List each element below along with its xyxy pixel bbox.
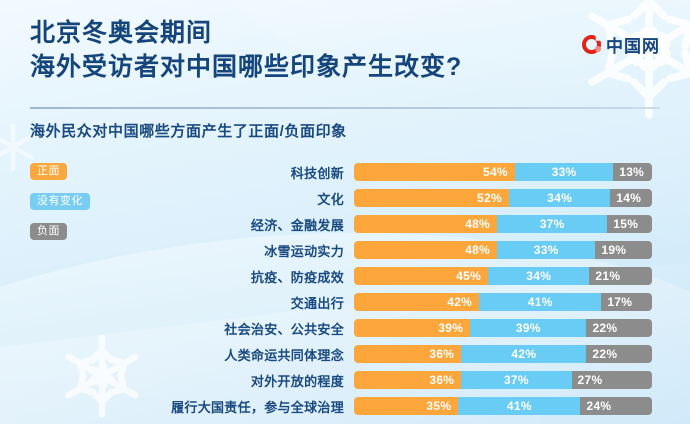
bar-segment-negative: 19% [595, 241, 652, 259]
chart-row-label: 交通出行 [0, 293, 354, 312]
chart-row: 对外开放的程度36%37%27% [0, 367, 690, 393]
stacked-bar: 42%41%17% [354, 293, 652, 311]
bar-segment-negative: 22% [586, 319, 652, 337]
bar-segment-positive: 36% [354, 345, 461, 363]
page-title-line-1: 北京冬奥会期间 [30, 16, 660, 50]
bar-segment-nochange: 33% [497, 241, 595, 259]
bar-segment-negative: 21% [589, 267, 652, 285]
bar-segment-negative: 24% [580, 397, 652, 415]
chart-row: 科技创新54%33%13% [0, 159, 690, 185]
chart-row: 抗疫、防疫成效45%34%21% [0, 263, 690, 289]
chart-row-label: 文化 [0, 189, 354, 208]
bar-segment-nochange: 37% [497, 215, 607, 233]
bar-segment-negative: 15% [607, 215, 652, 233]
chart-row: 履行大国责任，参与全球治理35%41%24% [0, 393, 690, 419]
chart-row: 人类命运共同体理念36%42%22% [0, 341, 690, 367]
chart-row-label: 对外开放的程度 [0, 371, 354, 390]
china-net-c-mark-icon [582, 35, 601, 54]
chart-row-label: 经济、金融发展 [0, 215, 354, 234]
stacked-bar: 35%41%24% [354, 397, 652, 415]
header-divider [30, 107, 660, 109]
brand-logo-text: 中国网 [606, 32, 660, 57]
stacked-bar: 39%39%22% [354, 319, 652, 337]
stacked-bar: 52%34%14% [354, 189, 652, 207]
infographic-poster: 北京冬奥会期间 海外受访者对中国哪些印象产生改变? 中国网 海外民众对中国哪些方… [0, 0, 690, 424]
chart-row-label: 冰雪运动实力 [0, 241, 354, 260]
bar-segment-negative: 13% [613, 163, 652, 181]
chart-row: 经济、金融发展48%37%15% [0, 211, 690, 237]
bar-segment-nochange: 34% [488, 267, 589, 285]
bar-segment-positive: 35% [354, 397, 458, 415]
chart-row: 社会治安、公共安全39%39%22% [0, 315, 690, 341]
chart-row-label: 抗疫、防疫成效 [0, 267, 354, 286]
stacked-bar: 36%42%22% [354, 345, 652, 363]
stacked-bar: 36%37%27% [354, 371, 652, 389]
chart-row: 交通出行42%41%17% [0, 289, 690, 315]
chart-subtitle: 海外民众对中国哪些方面产生了正面/负面印象 [30, 120, 347, 141]
bar-segment-nochange: 41% [479, 293, 601, 311]
bar-segment-nochange: 39% [470, 319, 586, 337]
bar-segment-negative: 14% [610, 189, 652, 207]
stacked-bar: 48%33%19% [354, 241, 652, 259]
bar-segment-positive: 52% [354, 189, 509, 207]
bar-segment-nochange: 33% [515, 163, 613, 181]
chart-row-label: 科技创新 [0, 163, 354, 182]
stacked-bar: 54%33%13% [354, 163, 652, 181]
bar-segment-positive: 42% [354, 293, 479, 311]
bar-segment-nochange: 41% [458, 397, 580, 415]
chart-row: 冰雪运动实力48%33%19% [0, 237, 690, 263]
bar-segment-negative: 17% [601, 293, 652, 311]
bar-segment-positive: 48% [354, 215, 497, 233]
stacked-bar: 45%34%21% [354, 267, 652, 285]
bar-segment-positive: 45% [354, 267, 488, 285]
chart-row-label: 履行大国责任，参与全球治理 [0, 397, 354, 416]
bar-segment-nochange: 42% [461, 345, 586, 363]
bar-segment-positive: 39% [354, 319, 470, 337]
bar-segment-positive: 54% [354, 163, 515, 181]
header: 北京冬奥会期间 海外受访者对中国哪些印象产生改变? 中国网 [30, 16, 660, 84]
bar-segment-positive: 36% [354, 371, 461, 389]
bar-segment-negative: 27% [572, 371, 652, 389]
stacked-bar-chart: 科技创新54%33%13%文化52%34%14%经济、金融发展48%37%15%… [0, 159, 690, 419]
stacked-bar: 48%37%15% [354, 215, 652, 233]
bar-segment-nochange: 34% [509, 189, 610, 207]
chart-row: 文化52%34%14% [0, 185, 690, 211]
bar-segment-nochange: 37% [461, 371, 571, 389]
bar-segment-positive: 48% [354, 241, 497, 259]
page-title-line-2: 海外受访者对中国哪些印象产生改变? [30, 50, 660, 84]
chart-row-label: 人类命运共同体理念 [0, 345, 354, 364]
bar-segment-negative: 22% [586, 345, 652, 363]
brand-logo[interactable]: 中国网 [582, 32, 660, 57]
chart-row-label: 社会治安、公共安全 [0, 319, 354, 338]
